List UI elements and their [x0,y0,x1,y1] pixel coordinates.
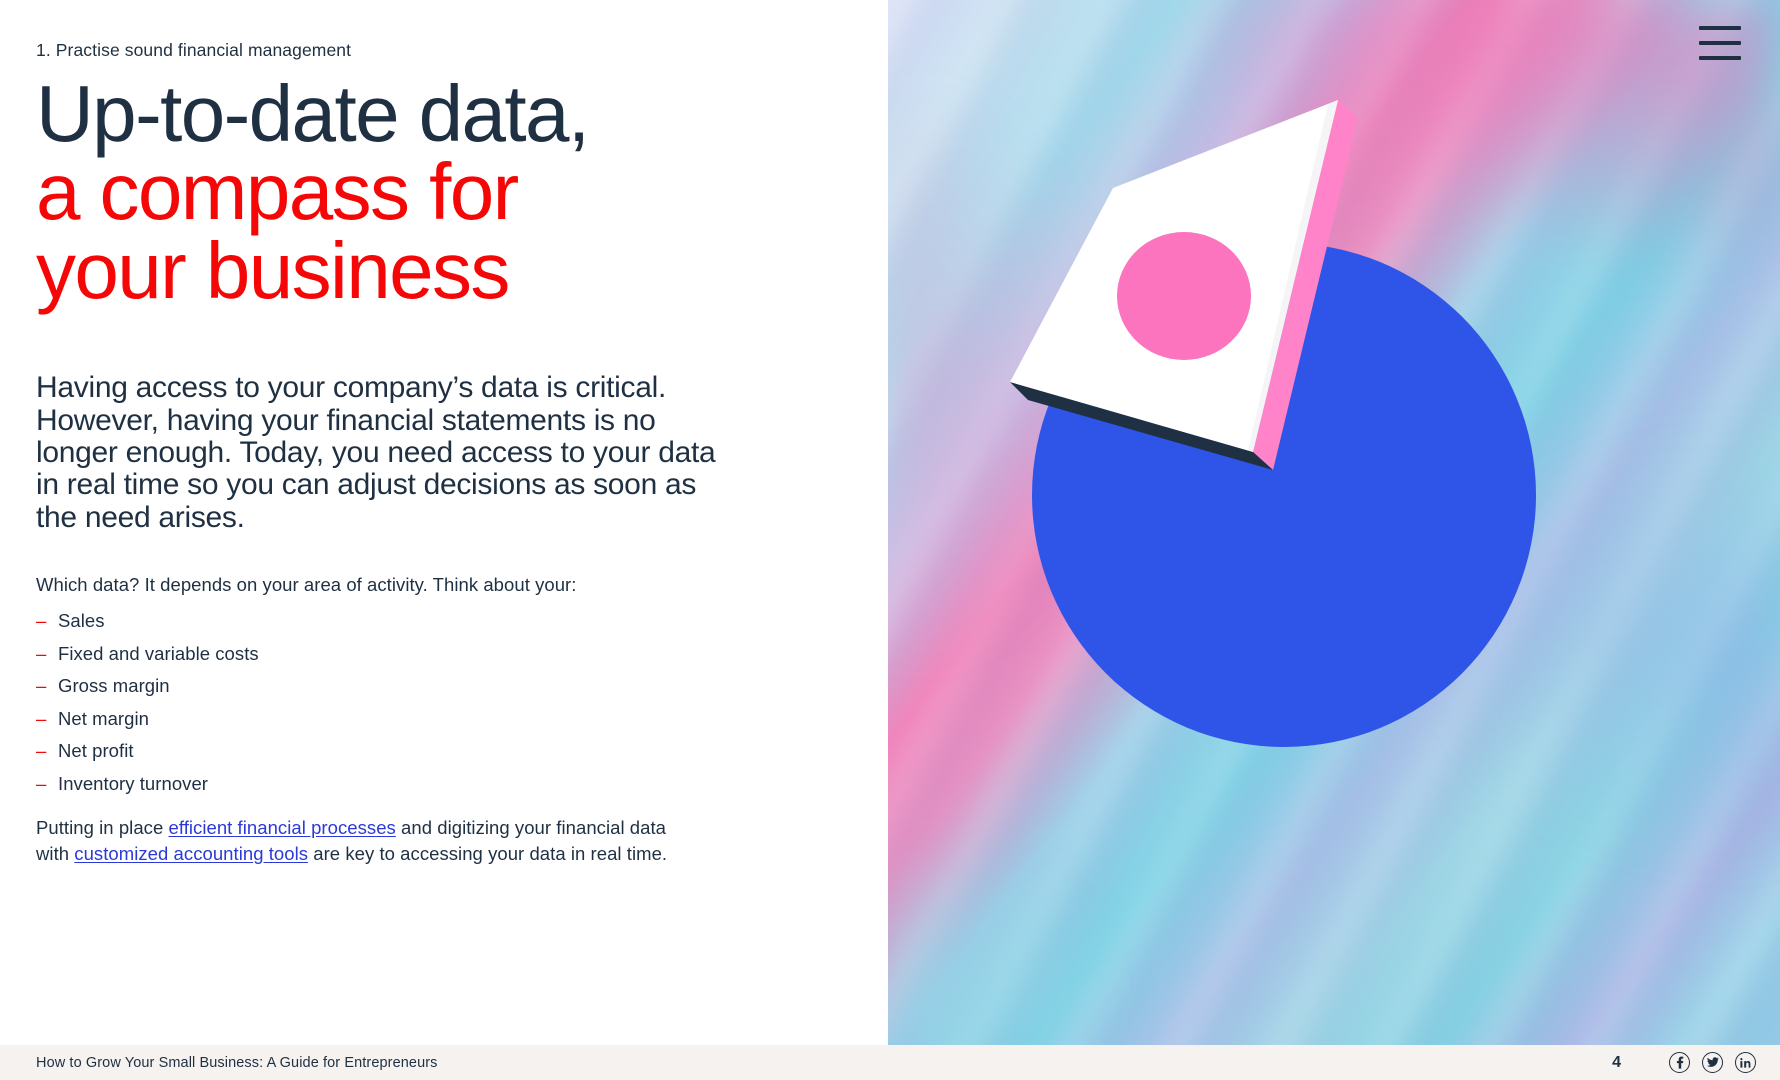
hamburger-line [1699,56,1741,60]
twitter-glyph [1707,1057,1719,1068]
social-links [1669,1052,1756,1073]
list-item: – Fixed and variable costs [36,643,848,665]
linkedin-icon[interactable] [1735,1052,1756,1073]
page-root: 1. Practise sound financial management U… [0,0,1780,1080]
headline-line-2: a compass for [36,153,848,231]
hamburger-line [1699,41,1741,45]
list-item-label: Net margin [58,708,149,730]
bullet-dash-icon: – [36,773,58,795]
list-item: – Inventory turnover [36,773,848,795]
bullet-dash-icon: – [36,643,58,665]
list-item: – Net profit [36,740,848,762]
list-item: – Gross margin [36,675,848,697]
list-intro-text: Which data? It depends on your area of a… [36,574,848,596]
footer-document-title: How to Grow Your Small Business: A Guide… [36,1055,438,1071]
content-column: 1. Practise sound financial management U… [0,0,888,1045]
bullet-dash-icon: – [36,610,58,632]
closing-text-1: Putting in place [36,817,169,838]
lead-paragraph: Having access to your company’s data is … [36,372,716,534]
page-footer: How to Grow Your Small Business: A Guide… [0,1045,1780,1080]
facebook-icon[interactable] [1669,1052,1690,1073]
compass-illustration [888,0,1780,1045]
list-item-label: Sales [58,610,105,632]
list-item-label: Gross margin [58,675,170,697]
facebook-glyph [1675,1056,1684,1069]
link-efficient-financial-processes[interactable]: efficient financial processes [169,817,396,838]
pink-dot-shape [1117,232,1251,360]
closing-text-3: are key to accessing your data in real t… [308,843,667,864]
hamburger-line [1699,26,1741,30]
illustration-panel [888,0,1780,1045]
section-eyebrow: 1. Practise sound financial management [36,40,848,61]
list-item-label: Net profit [58,740,134,762]
list-item-label: Fixed and variable costs [58,643,259,665]
headline-line-1: Up-to-date data, [36,75,848,153]
bullet-dash-icon: – [36,740,58,762]
twitter-icon[interactable] [1702,1052,1723,1073]
list-item: – Sales [36,610,848,632]
linkedin-glyph [1740,1057,1751,1068]
bullet-dash-icon: – [36,708,58,730]
page-title: Up-to-date data, a compass for your busi… [36,75,848,310]
headline-line-3: your business [36,232,848,310]
page-number: 4 [1612,1054,1621,1072]
data-type-list: – Sales – Fixed and variable costs – Gro… [36,610,848,795]
closing-paragraph: Putting in place efficient financial pro… [36,815,696,868]
link-customized-accounting-tools[interactable]: customized accounting tools [74,843,308,864]
bullet-dash-icon: – [36,675,58,697]
list-item: – Net margin [36,708,848,730]
footer-right-group: 4 [1612,1052,1756,1073]
list-item-label: Inventory turnover [58,773,208,795]
hamburger-menu-icon[interactable] [1699,26,1741,60]
